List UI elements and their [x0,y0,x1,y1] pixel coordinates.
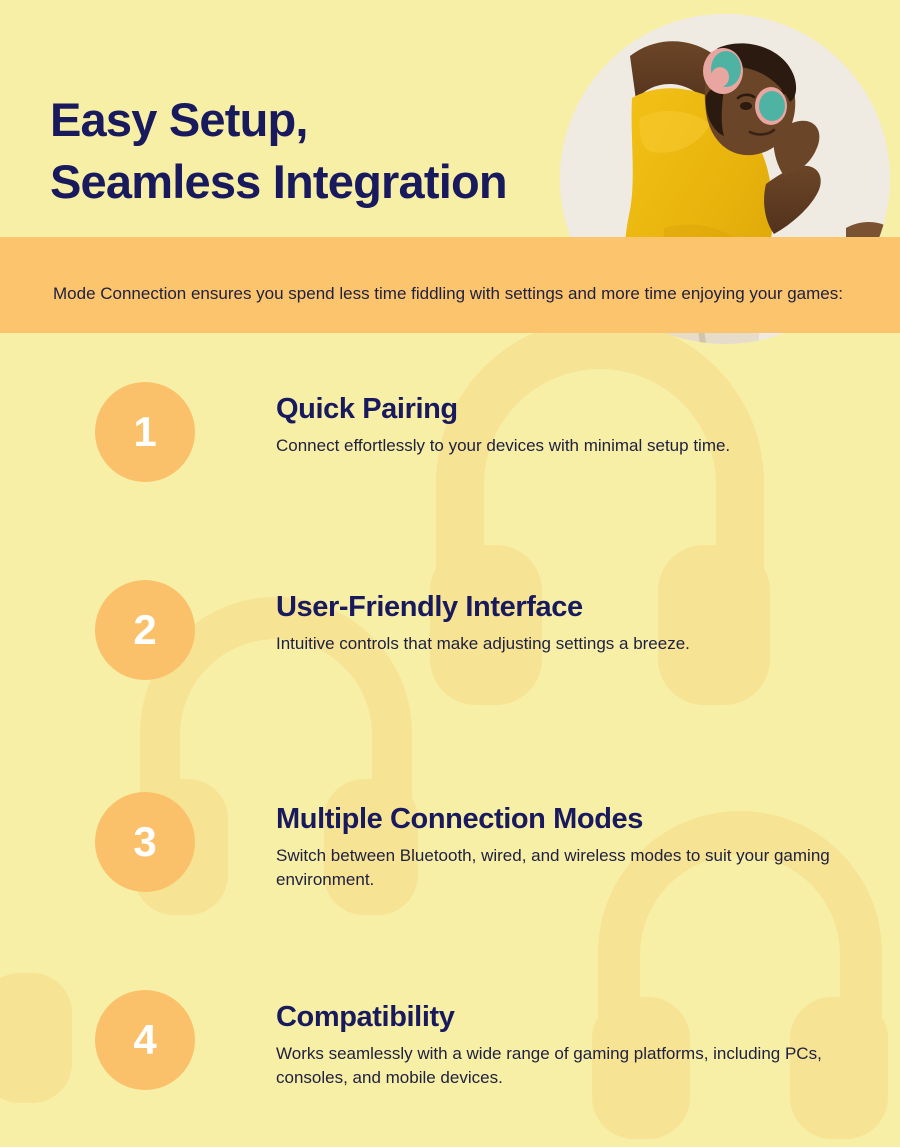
feature-body: User-Friendly Interface Intuitive contro… [276,580,886,656]
feature-title: Multiple Connection Modes [276,802,886,836]
list-item: 2 User-Friendly Interface Intuitive cont… [0,580,900,680]
step-number-badge: 3 [95,792,195,892]
list-item: 3 Multiple Connection Modes Switch betwe… [0,792,900,892]
feature-body: Compatibility Works seamlessly with a wi… [276,990,886,1089]
feature-description: Connect effortlessly to your devices wit… [276,434,886,457]
feature-description: Switch between Bluetooth, wired, and wir… [276,844,886,891]
infographic-poster: Easy Setup, Seamless Integration [0,0,900,1147]
intro-band: Mode Connection ensures you spend less t… [0,237,900,333]
page-title: Easy Setup, Seamless Integration [50,89,610,211]
step-number-badge: 4 [95,990,195,1090]
intro-text: Mode Connection ensures you spend less t… [53,282,843,306]
feature-title: Quick Pairing [276,392,886,426]
feature-body: Multiple Connection Modes Switch between… [276,792,886,891]
features-list: 1 Quick Pairing Connect effortlessly to … [0,333,900,1147]
step-number-badge: 1 [95,382,195,482]
list-item: 4 Compatibility Works seamlessly with a … [0,990,900,1090]
list-item: 1 Quick Pairing Connect effortlessly to … [0,382,900,482]
feature-title: Compatibility [276,1000,886,1034]
feature-description: Intuitive controls that make adjusting s… [276,632,886,655]
step-number-badge: 2 [95,580,195,680]
feature-title: User-Friendly Interface [276,590,886,624]
feature-description: Works seamlessly with a wide range of ga… [276,1042,886,1089]
feature-body: Quick Pairing Connect effortlessly to yo… [276,382,886,458]
